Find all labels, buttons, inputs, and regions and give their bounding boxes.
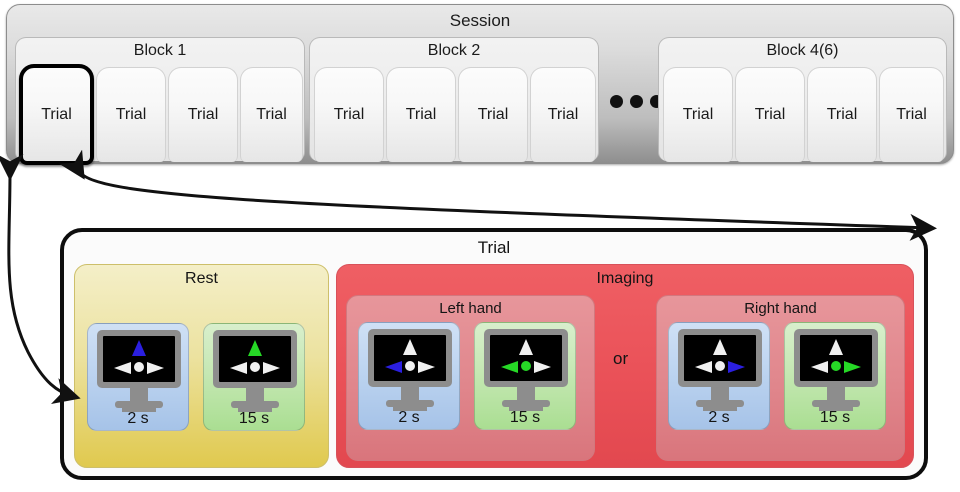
block-1-title: Block 1 [16,42,304,60]
right-hand-group: Right hand 2 s [656,295,905,461]
trial-tile-selected[interactable]: Trial [19,64,94,165]
trial-detail-title: Trial [64,238,924,258]
cursor-center-dot-icon [250,362,260,372]
cursor-right-arrow-icon [728,361,745,373]
cursor-up-arrow-icon [519,339,533,355]
trial-tile[interactable]: Trial [240,67,303,162]
right-hand-step-duration: 15 s [785,409,885,427]
imaging-phase: Imaging Left hand 2 s [336,264,914,468]
trial-tile[interactable]: Trial [663,67,733,162]
block-4[interactable]: Block 4(6) Trial Trial Trial Trial [658,37,947,161]
monitor-icon [794,329,878,411]
cursor-center-dot-icon [831,361,841,371]
cursor-right-arrow-icon [263,362,280,374]
right-hand-step-duration: 2 s [669,409,769,427]
cursor-center-dot-icon [134,362,144,372]
cursor-left-arrow-icon [114,362,131,374]
monitor-icon [678,329,762,411]
trial-tile[interactable]: Trial [168,67,238,162]
diagram-root: Session Block 1 Trial Trial Trial Trial … [0,0,960,492]
trial-tile[interactable]: Trial [530,67,596,162]
cursor-right-arrow-icon [418,361,435,373]
block-1[interactable]: Block 1 Trial Trial Trial Trial [15,37,305,161]
cursor-up-arrow-icon [248,340,262,356]
block-2-title: Block 2 [310,42,598,60]
cursor-center-dot-icon [715,361,725,371]
right-hand-title: Right hand [657,300,904,317]
cursor-up-arrow-icon [403,339,417,355]
trial-tile[interactable]: Trial [807,67,877,162]
session-container: Session Block 1 Trial Trial Trial Trial … [6,4,954,164]
trial-tile[interactable]: Trial [386,67,456,162]
rest-phase: Rest 2 s [74,264,329,468]
cursor-up-arrow-icon [132,340,146,356]
rest-step-15s-card[interactable]: 15 s [203,323,305,431]
cursor-right-arrow-icon [147,362,164,374]
detail-back-to-session-arrow [80,172,928,228]
trial-tile[interactable]: Trial [314,67,384,162]
block-2[interactable]: Block 2 Trial Trial Trial Trial [309,37,599,161]
trial-tile[interactable]: Trial [96,67,166,162]
block-4-title: Block 4(6) [659,42,946,60]
trial-tile[interactable]: Trial [458,67,528,162]
cursor-left-arrow-icon [385,361,402,373]
right-hand-step-15s-card[interactable]: 15 s [784,322,886,430]
left-hand-step-duration: 2 s [359,409,459,427]
right-hand-step-2s-card[interactable]: 2 s [668,322,770,430]
rest-step-duration: 2 s [88,410,188,428]
cursor-left-arrow-icon [695,361,712,373]
monitor-icon [213,330,297,412]
left-hand-title: Left hand [347,300,594,317]
cursor-right-arrow-icon [844,361,861,373]
trial-detail-panel: Trial Rest 2 s [60,228,928,480]
trial-tile[interactable]: Trial [735,67,805,162]
monitor-icon [97,330,181,412]
ellipsis-icon [610,95,663,108]
rest-step-duration: 15 s [204,410,304,428]
left-hand-step-2s-card[interactable]: 2 s [358,322,460,430]
cursor-up-arrow-icon [829,339,843,355]
imaging-title: Imaging [337,270,913,288]
monitor-icon [368,329,452,411]
rest-title: Rest [75,270,328,288]
cursor-left-arrow-icon [230,362,247,374]
trial-tile[interactable]: Trial [879,67,944,162]
monitor-icon [484,329,568,411]
cursor-center-dot-icon [521,361,531,371]
cursor-center-dot-icon [405,361,415,371]
session-title: Session [7,11,953,31]
cursor-left-arrow-icon [811,361,828,373]
rest-step-2s-card[interactable]: 2 s [87,323,189,431]
or-label: or [613,349,628,369]
cursor-up-arrow-icon [713,339,727,355]
left-hand-step-duration: 15 s [475,409,575,427]
left-hand-step-15s-card[interactable]: 15 s [474,322,576,430]
left-hand-group: Left hand 2 s [346,295,595,461]
cursor-left-arrow-icon [501,361,518,373]
cursor-right-arrow-icon [534,361,551,373]
